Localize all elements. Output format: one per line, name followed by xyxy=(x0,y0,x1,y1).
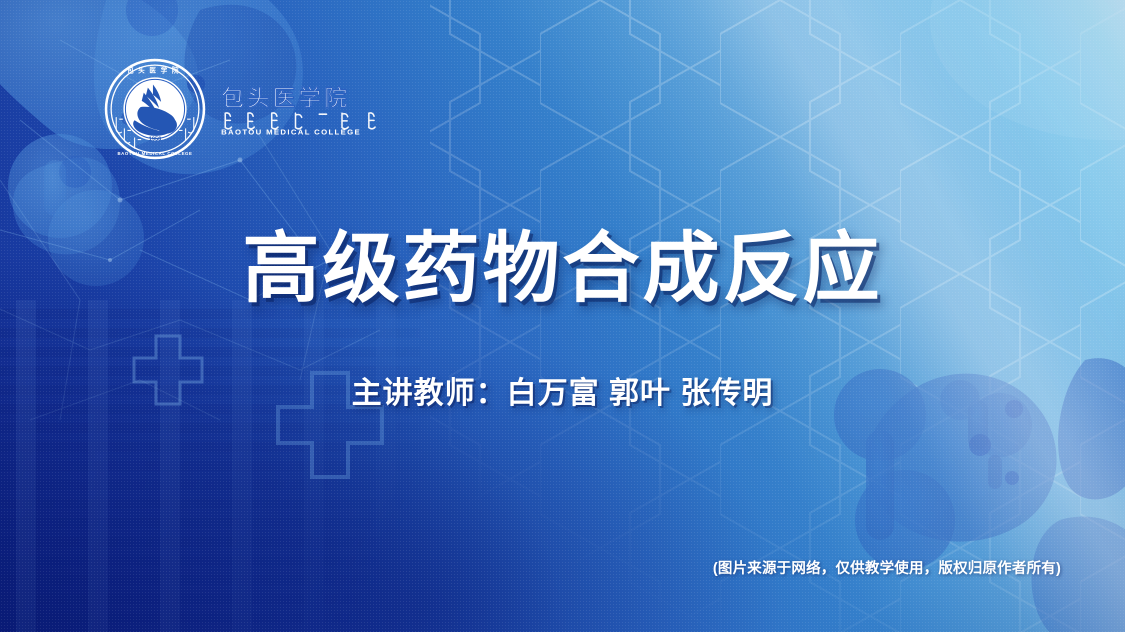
presentation-title-slide: 1956 包头医学院 BAOTOU MEDICAL COLLEGE 包头医学院 xyxy=(0,0,1125,632)
svg-text:包头医学院: 包头医学院 xyxy=(126,65,183,74)
svg-text:BAOTOU MEDICAL COLLEGE: BAOTOU MEDICAL COLLEGE xyxy=(117,151,192,156)
image-credit-note: (图片来源于网络，仅供教学使用，版权归原作者所有) xyxy=(713,557,1061,578)
svg-text:包头医学院: 包头医学院 xyxy=(221,85,350,111)
page-title: 高级药物合成反应 xyxy=(0,228,1125,311)
baotou-medical-college-emblem-icon: 1956 包头医学院 BAOTOU MEDICAL COLLEGE xyxy=(104,58,206,160)
college-wordmark-icon: 包头医学院 BAOTOU MEDICAL COLLEGE xyxy=(218,58,404,160)
svg-text:BAOTOU MEDICAL COLLEGE: BAOTOU MEDICAL COLLEGE xyxy=(221,127,361,136)
instructor-line: 主讲教师：白万富 郭叶 张传明 xyxy=(0,368,1125,412)
college-logo: 1956 包头医学院 BAOTOU MEDICAL COLLEGE 包头医学院 xyxy=(104,58,404,160)
svg-text:1956: 1956 xyxy=(149,137,161,143)
